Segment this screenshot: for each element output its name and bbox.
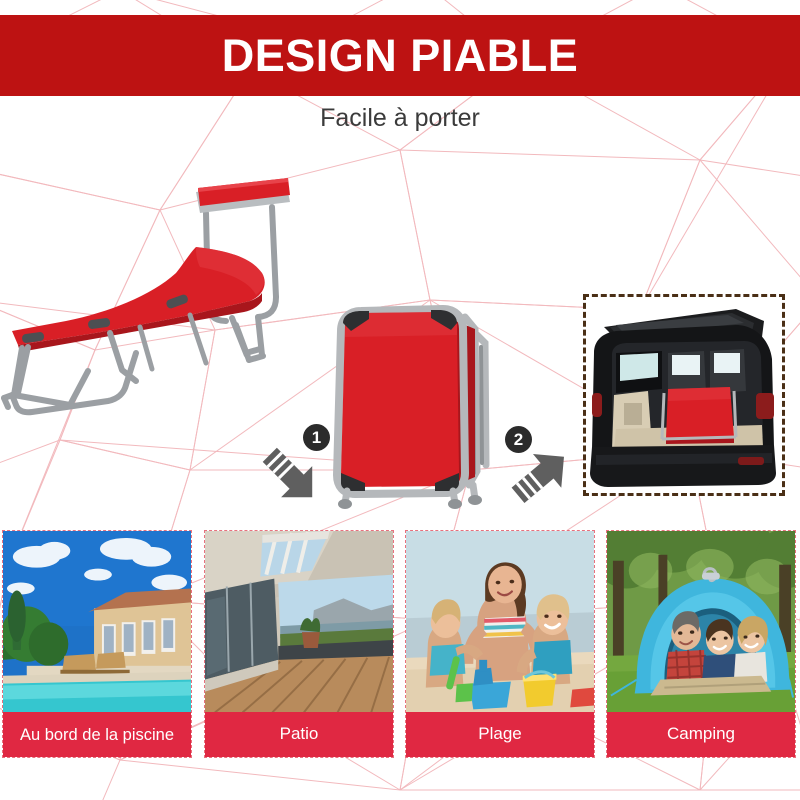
poolside-villa-photo: [3, 531, 191, 712]
folded-lounger-illustration: [325, 295, 500, 510]
scenario-card-label-poolside: Au bord de la piscine: [3, 712, 191, 757]
mother-and-children-on-beach-photo: [406, 531, 594, 712]
scenario-card-label-patio: Patio: [205, 712, 393, 757]
suv-trunk-illustration: [586, 297, 782, 493]
modern-patio-terrace-photo: [205, 531, 393, 712]
product-demo-stage: 1 2: [0, 140, 800, 525]
open-lounger-illustration: [0, 155, 290, 420]
header-banner: DESIGN PIABLE: [0, 15, 800, 96]
page-title: DESIGN PIABLE: [222, 33, 579, 78]
product-infographic-page: DESIGN PIABLE Facile à porter: [0, 0, 800, 800]
scenario-card-label-beach: Plage: [406, 712, 594, 757]
usage-scenario-cards: Au bord de la piscine: [0, 530, 800, 762]
scenario-card-poolside[interactable]: Au bord de la piscine: [2, 530, 192, 758]
family-in-camping-tent-photo: [607, 531, 795, 712]
step-badge-2: 2: [505, 426, 532, 453]
scenario-card-beach[interactable]: Plage: [405, 530, 595, 758]
scenario-card-camping[interactable]: Camping: [606, 530, 796, 758]
scenario-card-label-camping: Camping: [607, 712, 795, 757]
step-badge-1: 1: [303, 424, 330, 451]
scenario-card-patio[interactable]: Patio: [204, 530, 394, 758]
car-trunk-photo-frame: [583, 294, 785, 496]
page-subtitle: Facile à porter: [0, 103, 800, 133]
